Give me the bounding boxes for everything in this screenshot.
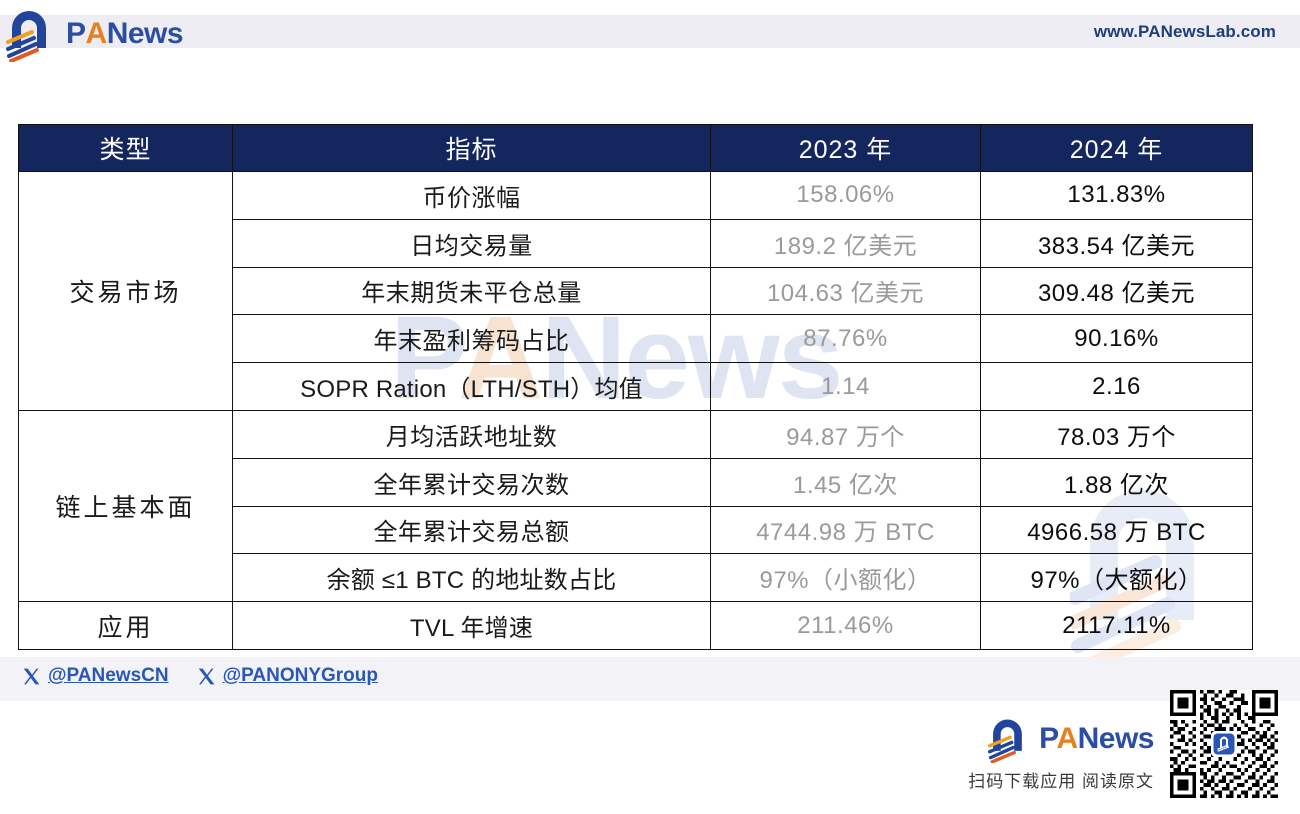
- social-handle: @PANONYGroup: [223, 665, 378, 687]
- footer-word-a: A: [1056, 722, 1077, 755]
- category-cell-onchain-fundamentals: 链上基本面: [19, 410, 233, 601]
- social-handle: @PANewsCN: [48, 665, 169, 687]
- x-twitter-icon: [22, 667, 41, 686]
- comparison-table-wrapper: 类型 指标 2023 年 2024 年 交易市场 币价涨幅 158.06% 13…: [18, 124, 1252, 650]
- footer-brand: PANews 扫码下载应用 阅读原文: [968, 715, 1154, 792]
- metric-cell: 年末期货未平仓总量: [233, 267, 711, 315]
- metric-cell: SOPR Ration（LTH/STH）均值: [233, 363, 711, 411]
- panews-arch-icon: [988, 715, 1032, 763]
- value-2024-cell: 4966.58 万 BTC: [981, 506, 1253, 554]
- metric-cell: 全年累计交易次数: [233, 458, 711, 506]
- table-header: 类型 指标 2023 年 2024 年: [19, 125, 1253, 172]
- category-cell-applications: 应用: [19, 602, 233, 650]
- value-2024-cell: 97%（大额化）: [981, 554, 1253, 602]
- social-links: @PANewsCN @PANONYGroup: [22, 665, 378, 687]
- x-twitter-icon: [197, 667, 216, 686]
- value-2023-cell: 104.63 亿美元: [711, 267, 981, 315]
- page-header: PANews www.PANewsLab.com: [0, 0, 1300, 70]
- value-2023-cell: 1.14: [711, 363, 981, 411]
- table-row: 应用 TVL 年增速 211.46% 2117.11%: [19, 602, 1253, 650]
- social-link-panonygroup[interactable]: @PANONYGroup: [197, 665, 378, 687]
- value-2023-cell: 189.2 亿美元: [711, 219, 981, 267]
- value-2024-cell: 2117.11%: [981, 602, 1253, 650]
- value-2023-cell: 1.45 亿次: [711, 458, 981, 506]
- metric-cell: 全年累计交易总额: [233, 506, 711, 554]
- value-2023-cell: 4744.98 万 BTC: [711, 506, 981, 554]
- table-header-row: 类型 指标 2023 年 2024 年: [19, 125, 1253, 172]
- footer-word-p: P: [1039, 722, 1056, 755]
- table-row: 链上基本面 月均活跃地址数 94.87 万个 78.03 万个: [19, 410, 1253, 458]
- metric-cell: 日均交易量: [233, 219, 711, 267]
- category-cell-trading-market: 交易市场: [19, 172, 233, 411]
- metric-cell: TVL 年增速: [233, 602, 711, 650]
- column-header-2024: 2024 年: [981, 125, 1253, 172]
- value-2023-cell: 97%（小额化）: [711, 554, 981, 602]
- value-2024-cell: 1.88 亿次: [981, 458, 1253, 506]
- value-2023-cell: 211.46%: [711, 602, 981, 650]
- value-2024-cell: 78.03 万个: [981, 410, 1253, 458]
- site-url: www.PANewsLab.com: [1094, 22, 1276, 42]
- footer-word-rest: News: [1078, 722, 1154, 755]
- column-header-2023: 2023 年: [711, 125, 981, 172]
- metric-cell: 币价涨幅: [233, 172, 711, 220]
- value-2024-cell: 131.83%: [981, 172, 1253, 220]
- value-2023-cell: 87.76%: [711, 315, 981, 363]
- metric-cell: 年末盈利筹码占比: [233, 315, 711, 363]
- table-row: 交易市场 币价涨幅 158.06% 131.83%: [19, 172, 1253, 220]
- metric-cell: 月均活跃地址数: [233, 410, 711, 458]
- brand-wordmark: PANews: [66, 19, 183, 49]
- value-2024-cell: 2.16: [981, 363, 1253, 411]
- footer-wordmark: PANews: [1039, 724, 1154, 754]
- footer-caption: 扫码下载应用 阅读原文: [968, 767, 1154, 792]
- column-header-metric: 指标: [233, 125, 711, 172]
- column-header-type: 类型: [19, 125, 233, 172]
- value-2023-cell: 158.06%: [711, 172, 981, 220]
- social-link-panewscn[interactable]: @PANewsCN: [22, 665, 169, 687]
- brand-logo: PANews: [6, 6, 183, 62]
- table-body: 交易市场 币价涨幅 158.06% 131.83% 日均交易量 189.2 亿美…: [19, 172, 1253, 650]
- qr-code[interactable]: [1170, 690, 1278, 798]
- value-2024-cell: 90.16%: [981, 315, 1253, 363]
- value-2024-cell: 309.48 亿美元: [981, 267, 1253, 315]
- value-2023-cell: 94.87 万个: [711, 410, 981, 458]
- brand-word-a: A: [86, 19, 107, 49]
- brand-word-p: P: [66, 19, 86, 49]
- metric-cell: 余额 ≤1 BTC 的地址数占比: [233, 554, 711, 602]
- btc-comparison-table: 类型 指标 2023 年 2024 年 交易市场 币价涨幅 158.06% 13…: [18, 124, 1253, 650]
- value-2024-cell: 383.54 亿美元: [981, 219, 1253, 267]
- brand-word-rest: News: [107, 19, 183, 49]
- panews-arch-icon: [6, 6, 58, 62]
